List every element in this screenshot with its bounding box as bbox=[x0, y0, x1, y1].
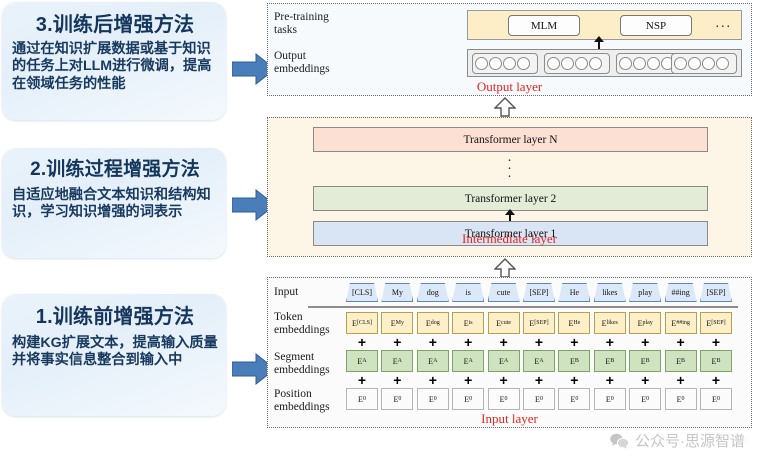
input-token: is bbox=[452, 283, 484, 302]
token-embedding-cell: E##ing bbox=[665, 312, 697, 334]
input-token: ##ing bbox=[665, 283, 697, 302]
input-token-label: play bbox=[629, 283, 661, 302]
plus-icon: + bbox=[569, 337, 580, 348]
token-embeddings-label: Token embeddings bbox=[274, 311, 330, 337]
plus-icon: + bbox=[604, 337, 615, 348]
transformer-layer-n: Transformer layer N bbox=[313, 127, 708, 152]
segment-embedding-cell: EB bbox=[665, 350, 697, 372]
input-token: [SEP] bbox=[700, 283, 732, 302]
plus-icon: + bbox=[357, 375, 368, 386]
position-embedding-cell: E0 bbox=[700, 388, 732, 410]
wechat-icon bbox=[610, 433, 629, 449]
input-row-label: Input bbox=[274, 286, 298, 299]
plus-icon: + bbox=[534, 337, 545, 348]
plus-icon: + bbox=[569, 375, 580, 386]
input-token-label: dog bbox=[417, 283, 449, 302]
token-embedding-cell: E[CLS] bbox=[346, 312, 378, 334]
input-token-label: [CLS] bbox=[346, 283, 378, 302]
output-layer-caption: Output layer bbox=[268, 79, 751, 95]
position-embedding-cell: E0 bbox=[665, 388, 697, 410]
embedding-circle-icon bbox=[561, 57, 574, 70]
embedding-circle-icon bbox=[674, 57, 687, 70]
card-pre-training: 1.训练前增强方法 构建KG扩展文本，提高输入质量并将事实信息整合到输入中 bbox=[2, 294, 226, 416]
transformer-layer-2: Transformer layer 2 bbox=[313, 186, 708, 211]
embedding-circle-icon bbox=[589, 57, 602, 70]
token-embedding-cell: Ecute bbox=[488, 312, 520, 334]
layers-vertical-ellipsis: ... bbox=[268, 154, 751, 178]
input-token-label: is bbox=[452, 283, 484, 302]
embedding-circle-icon bbox=[647, 57, 660, 70]
token-embedding-cell: E[SEP] bbox=[700, 312, 732, 334]
position-embedding-cell: E0 bbox=[594, 388, 626, 410]
input-token: dog bbox=[417, 283, 449, 302]
card-pre-training-body: 构建KG扩展文本，提高输入质量并将事实信息整合到输入中 bbox=[12, 335, 218, 370]
tasks-ellipsis: ... bbox=[716, 16, 733, 32]
embedding-circle-icon bbox=[716, 57, 729, 70]
plus-icon: + bbox=[427, 375, 438, 386]
plus-icon: + bbox=[498, 375, 509, 386]
plus-icon: + bbox=[357, 337, 368, 348]
input-token: likes bbox=[594, 283, 626, 302]
task-nsp[interactable]: NSP bbox=[620, 15, 692, 36]
diagram-canvas: 3.训练后增强方法 通过在知识扩展数据或基于知识的任务上对LLM进行微调，提高在… bbox=[0, 0, 757, 463]
pre-training-tasks-bar: MLM NSP ... bbox=[467, 10, 742, 40]
output-embedding-group bbox=[671, 53, 737, 74]
embedding-circle-icon bbox=[489, 57, 502, 70]
embedding-circle-icon bbox=[517, 57, 530, 70]
plus-icon: + bbox=[534, 375, 545, 386]
intermediate-layer-panel: Transformer layer N ... Transformer laye… bbox=[267, 117, 752, 257]
segment-embedding-cell: EB bbox=[558, 350, 590, 372]
embedding-circle-icon bbox=[503, 57, 516, 70]
input-layer-caption: Input layer bbox=[268, 411, 751, 427]
pre-training-tasks-label: Pre-training tasks bbox=[274, 11, 329, 37]
input-divider bbox=[308, 306, 738, 308]
embedding-circle-icon bbox=[688, 57, 701, 70]
position-embedding-cell: E0 bbox=[346, 388, 378, 410]
plus-icon: + bbox=[675, 337, 686, 348]
up-arrow-icon-to-output bbox=[494, 97, 516, 117]
position-embedding-cell: E0 bbox=[417, 388, 449, 410]
segment-embedding-cell: EA bbox=[346, 350, 378, 372]
token-embedding-cell: EHe bbox=[558, 312, 590, 334]
input-token-label: [SEP] bbox=[700, 283, 732, 302]
input-token: My bbox=[381, 283, 413, 302]
input-token-label: cute bbox=[488, 283, 520, 302]
position-embedding-cell: E0 bbox=[488, 388, 520, 410]
segment-embedding-cell: EB bbox=[629, 350, 661, 372]
watermark: 公众号·思源智谱 bbox=[610, 430, 745, 451]
position-embedding-cell: E0 bbox=[381, 388, 413, 410]
plus-icon: + bbox=[640, 375, 651, 386]
card-pre-training-title: 1.训练前增强方法 bbox=[12, 300, 218, 329]
layer-connector-arrowhead-icon bbox=[505, 209, 515, 215]
input-token: play bbox=[629, 283, 661, 302]
plus-icon: + bbox=[640, 337, 651, 348]
input-token-label: likes bbox=[594, 283, 626, 302]
token-embedding-cell: Edog bbox=[417, 312, 449, 334]
card-during-training-title: 2.训练过程增强方法 bbox=[12, 154, 218, 181]
segment-embedding-cell: EA bbox=[417, 350, 449, 372]
position-embedding-cell: E0 bbox=[558, 388, 590, 410]
nsp-connector-arrowhead-icon bbox=[594, 36, 604, 42]
intermediate-layer-caption: Intermediate layer bbox=[268, 231, 751, 247]
position-embedding-cell: E0 bbox=[452, 388, 484, 410]
plus-icon: + bbox=[392, 337, 403, 348]
card-during-training: 2.训练过程增强方法 自适应地融合文本知识和结构知识，学习知识增强的词表示 bbox=[2, 148, 226, 258]
position-embeddings-label: Position embeddings bbox=[274, 388, 330, 414]
input-token: He bbox=[558, 283, 590, 302]
token-embedding-cell: Eplay bbox=[629, 312, 661, 334]
plus-icon: + bbox=[711, 375, 722, 386]
embedding-circle-icon bbox=[475, 57, 488, 70]
position-embedding-cell: E0 bbox=[523, 388, 555, 410]
card-during-training-body: 自适应地融合文本知识和结构知识，学习知识增强的词表示 bbox=[12, 187, 218, 222]
token-embedding-cell: Eis bbox=[452, 312, 484, 334]
embedding-circle-icon bbox=[633, 57, 646, 70]
output-embedding-group bbox=[472, 53, 538, 74]
segment-embedding-cell: EA bbox=[488, 350, 520, 372]
output-embeddings-label: Output embeddings bbox=[274, 50, 330, 76]
plus-icon: + bbox=[711, 337, 722, 348]
embedding-circle-icon bbox=[547, 57, 560, 70]
task-mlm[interactable]: MLM bbox=[508, 15, 580, 36]
token-embedding-cell: E[SEP] bbox=[523, 312, 555, 334]
output-layer-panel: Pre-training tasks Output embeddings MLM… bbox=[267, 3, 752, 96]
plus-icon: + bbox=[604, 375, 615, 386]
plus-icon: + bbox=[463, 337, 474, 348]
input-token-label: He bbox=[558, 283, 590, 302]
up-arrow-icon-to-intermediate bbox=[494, 258, 516, 278]
input-token: [SEP] bbox=[523, 283, 555, 302]
watermark-text: 公众号·思源智谱 bbox=[635, 430, 745, 451]
segment-embedding-cell: EA bbox=[452, 350, 484, 372]
input-token-label: My bbox=[381, 283, 413, 302]
segment-embedding-cell: EA bbox=[381, 350, 413, 372]
card-post-training-title: 3.训练后增强方法 bbox=[12, 8, 218, 37]
card-post-training-body: 通过在知识扩展数据或基于知识的任务上对LLM进行微调，提高在领域任务的性能 bbox=[12, 41, 218, 93]
segment-embeddings-label: Segment embeddings bbox=[274, 351, 330, 377]
input-token: cute bbox=[488, 283, 520, 302]
segment-embedding-cell: EB bbox=[594, 350, 626, 372]
plus-icon: + bbox=[427, 337, 438, 348]
plus-icon: + bbox=[463, 375, 474, 386]
card-post-training: 3.训练后增强方法 通过在知识扩展数据或基于知识的任务上对LLM进行微调，提高在… bbox=[2, 2, 226, 120]
output-embedding-group bbox=[544, 53, 610, 74]
embedding-circle-icon bbox=[619, 57, 632, 70]
token-embedding-cell: EMy bbox=[381, 312, 413, 334]
embedding-circle-icon bbox=[702, 57, 715, 70]
embedding-circle-icon bbox=[575, 57, 588, 70]
segment-embedding-cell: EB bbox=[700, 350, 732, 372]
position-embedding-cell: E0 bbox=[629, 388, 661, 410]
input-token: [CLS] bbox=[346, 283, 378, 302]
plus-icon: + bbox=[498, 337, 509, 348]
input-layer-panel: Input Token embeddings Segment embedding… bbox=[267, 277, 752, 428]
input-token-label: [SEP] bbox=[523, 283, 555, 302]
input-token-label: ##ing bbox=[665, 283, 697, 302]
token-embedding-cell: Elikes bbox=[594, 312, 626, 334]
plus-icon: + bbox=[675, 375, 686, 386]
plus-icon: + bbox=[392, 375, 403, 386]
output-embeddings-bar: ... bbox=[467, 49, 742, 77]
segment-embedding-cell: EA bbox=[523, 350, 555, 372]
